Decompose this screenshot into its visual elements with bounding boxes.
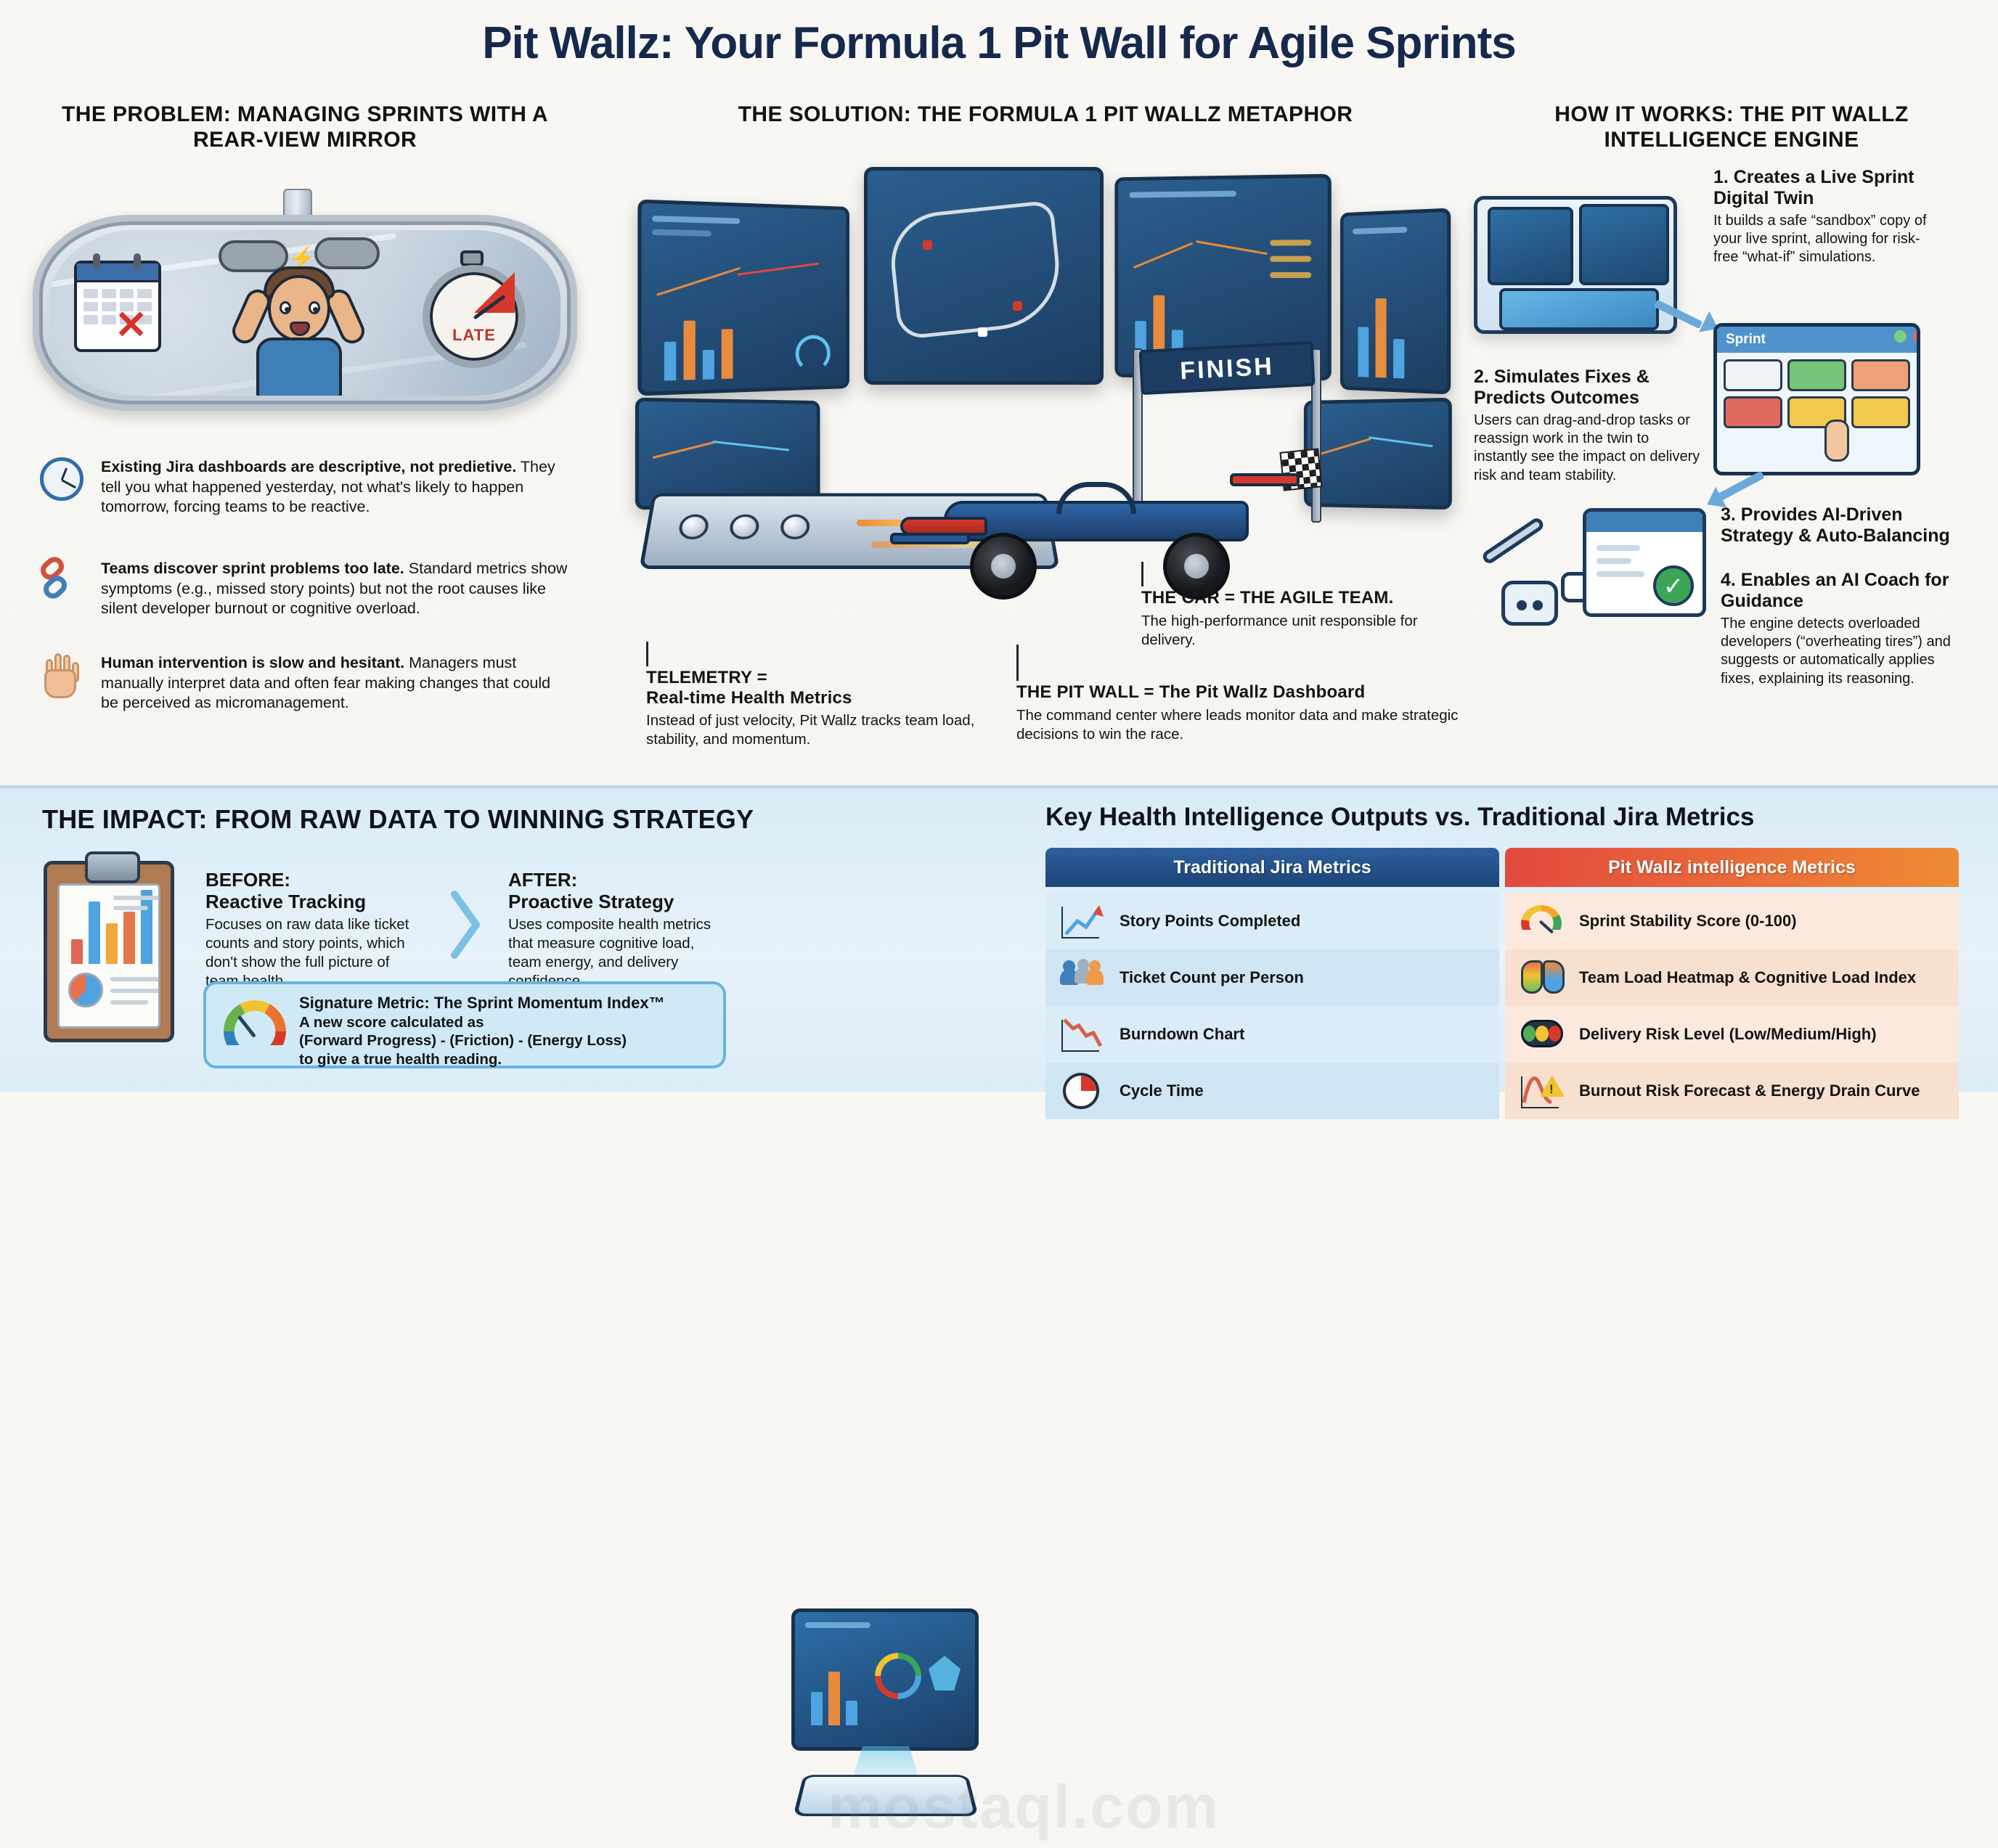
table-cell-label: Burndown Chart: [1120, 1025, 1244, 1044]
callout-car: THE CAR = THE AGILE TEAM. The high-perfo…: [1141, 588, 1461, 650]
clipboard-report-icon: [44, 861, 174, 1042]
finish-banner-label: FINISH: [1139, 341, 1316, 395]
after-block: AFTER: Proactive Strategy Uses composite…: [508, 870, 719, 991]
problem-bullet-2: Teams discover sprint problems too late.…: [40, 559, 570, 619]
column-heading-solution: THE SOLUTION: THE FORMULA 1 PIT WALLZ ME…: [639, 102, 1452, 127]
how-step-2: 2. Simulates Fixes & Predicts Outcomes U…: [1474, 367, 1706, 485]
callout-car-body: The high-performance unit responsible fo…: [1141, 612, 1461, 650]
how-step-4-title: 4. Enables an AI Coach for Guidance: [1721, 570, 1968, 612]
trend-up-chart-icon: [1059, 901, 1106, 941]
hologram-dashboard-illustration: [770, 1608, 1002, 1848]
callout-pit-wall: THE PIT WALL = The Pit Wallz Dashboard T…: [1016, 682, 1467, 744]
table-row: Delivery Risk Level (Low/Medium/High): [1505, 1006, 1959, 1063]
burndown-chart-icon: [1059, 1014, 1106, 1055]
callout-telemetry-title: TELEMETRY =: [646, 668, 987, 688]
comparison-table: Traditional Jira Metrics Pit Wallz intel…: [1045, 848, 1959, 1119]
callout-telemetry-body: Instead of just velocity, Pit Wallz trac…: [646, 711, 987, 749]
speedometer-gauge-icon: [1518, 901, 1566, 941]
table-cell-label: Cycle Time: [1120, 1082, 1204, 1100]
chevron-right-icon: [450, 890, 482, 960]
brain-icon: [1518, 957, 1566, 998]
how-step-3: 3. Provides AI-Driven Strategy & Auto-Ba…: [1721, 504, 1968, 547]
callout-telemetry: TELEMETRY = Real-time Health Metrics Ins…: [646, 668, 987, 750]
how-step-1-body: It builds a safe “sandbox” copy of your …: [1713, 212, 1938, 267]
after-body: Uses composite health metrics that measu…: [508, 915, 719, 991]
column-heading-how-it-works: HOW IT WORKS: THE PIT WALLZ INTELLIGENCE…: [1481, 102, 1982, 153]
raised-hand-icon: [40, 653, 86, 700]
mirror-glass: ✕ ⚡: [49, 230, 560, 396]
how-step-2-title: 2. Simulates Fixes & Predicts Outcomes: [1474, 367, 1706, 409]
stopwatch-late-icon: LATE: [423, 265, 526, 368]
approved-card-illustration: ✓: [1583, 508, 1706, 617]
how-step-3-title: 3. Provides AI-Driven Strategy & Auto-Ba…: [1721, 504, 1968, 547]
before-label: BEFORE:: [205, 870, 423, 891]
callout-pit-wall-title: THE PIT WALL = The Pit Wallz Dashboard: [1016, 682, 1467, 703]
page-title: Pit Wallz: Your Formula 1 Pit Wall for A…: [0, 17, 1998, 69]
table-cell-label: Ticket Count per Person: [1120, 968, 1304, 987]
robot-arm-ai-coach-icon: [1481, 530, 1590, 646]
table-row: Team Load Heatmap & Cognitive Load Index: [1505, 949, 1959, 1006]
bullet-2-bold: Teams discover sprint problems too late.: [101, 560, 404, 577]
table-row: Cycle Time: [1045, 1063, 1499, 1119]
table-row: Burndown Chart: [1045, 1006, 1499, 1063]
sprint-board-title: Sprint: [1717, 327, 1917, 353]
bullet-1-bold: Existing Jira dashboards are descriptive…: [101, 458, 516, 475]
signature-metric-title: Signature Metric: The Sprint Momentum In…: [299, 993, 720, 1013]
table-cell-label: Story Points Completed: [1120, 912, 1300, 931]
pit-wall-illustration: FINISH: [624, 160, 1459, 624]
how-step-2-body: Users can drag-and-drop tasks or reassig…: [1474, 412, 1706, 485]
risk-curve-warning-icon: [1518, 1071, 1566, 1111]
problem-bullet-3: Human intervention is slow and hesitant.…: [40, 653, 570, 714]
how-step-4: 4. Enables an AI Coach for Guidance The …: [1721, 570, 1968, 688]
signature-metric-line2: (Forward Progress) - (Friction) - (Energ…: [299, 1031, 720, 1050]
callout-telemetry-title2: Real-time Health Metrics: [646, 688, 987, 708]
sprint-board-illustration: Sprint: [1713, 323, 1920, 475]
table-cell-label: Sprint Stability Score (0-100): [1579, 912, 1797, 931]
dashboard-screen-lower-right: [1304, 398, 1452, 510]
calendar-x-mark: ✕: [115, 307, 152, 345]
calendar-icon: ✕: [74, 261, 161, 352]
signature-metric-callout: Signature Metric: The Sprint Momentum In…: [203, 981, 726, 1068]
how-step-1: 1. Creates a Live Sprint Digital Twin It…: [1713, 167, 1938, 267]
check-mark-icon: ✓: [1653, 565, 1694, 606]
table-row: Story Points Completed: [1045, 893, 1499, 949]
table-cell-label: Burnout Risk Forecast & Energy Drain Cur…: [1579, 1082, 1920, 1100]
signature-metric-line1: A new score calculated as: [299, 1013, 720, 1032]
callout-pit-wall-body: The command center where leads monitor d…: [1016, 706, 1467, 744]
table-column-traditional: Story Points Completed Ticket Count per …: [1045, 893, 1499, 1119]
before-block: BEFORE: Reactive Tracking Focuses on raw…: [205, 870, 423, 991]
column-heading-problem: THE PROBLEM: MANAGING SPRINTS WITH A REA…: [29, 102, 581, 153]
table-row: Ticket Count per Person: [1045, 949, 1499, 1006]
before-body: Focuses on raw data like ticket counts a…: [205, 915, 423, 991]
table-row: Burnout Risk Forecast & Energy Drain Cur…: [1505, 1063, 1959, 1119]
how-step-1-title: 1. Creates a Live Sprint Digital Twin: [1713, 167, 1938, 209]
digital-twin-illustration: [1474, 196, 1677, 334]
comparison-table-title: Key Health Intelligence Outputs vs. Trad…: [1045, 803, 1754, 832]
callout-car-title: THE CAR = THE AGILE TEAM.: [1141, 588, 1461, 608]
before-title: Reactive Tracking: [205, 891, 423, 913]
after-label: AFTER:: [508, 870, 719, 891]
rear-view-mirror-illustration: ✕ ⚡: [33, 189, 577, 421]
dashboard-screen-left: [637, 200, 849, 396]
dashboard-screen-side: [1340, 208, 1451, 394]
speedometer-gauge-icon: [224, 1000, 286, 1063]
after-title: Proactive Strategy: [508, 891, 719, 913]
table-row: Sprint Stability Score (0-100): [1505, 893, 1959, 949]
clock-icon: [40, 457, 86, 504]
table-cell-label: Delivery Risk Level (Low/Medium/High): [1579, 1025, 1877, 1044]
stopwatch-label: LATE: [423, 326, 526, 345]
how-step-4-body: The engine detects overloaded developers…: [1721, 615, 1968, 688]
impact-heading: THE IMPACT: FROM RAW DATA TO WINNING STR…: [42, 804, 754, 835]
stressed-person-icon: ⚡: [227, 245, 372, 396]
table-header-pitwallz: Pit Wallz intelligence Metrics: [1505, 848, 1959, 887]
table-header-traditional: Traditional Jira Metrics: [1045, 848, 1499, 887]
table-cell-label: Team Load Heatmap & Cognitive Load Index: [1579, 968, 1916, 987]
table-column-pitwallz: Sprint Stability Score (0-100) Team Load…: [1505, 893, 1959, 1119]
traffic-light-icon: [1518, 1014, 1566, 1055]
infographic-top-area: Pit Wallz: Your Formula 1 Pit Wall for A…: [0, 0, 1998, 785]
broken-chain-icon: [40, 559, 86, 605]
problem-bullet-1: Existing Jira dashboards are descriptive…: [40, 457, 570, 518]
formula-1-car-illustration: [900, 450, 1307, 602]
people-group-icon: [1059, 957, 1106, 998]
mirror-body: ✕ ⚡: [33, 215, 577, 411]
dashboard-screen-track-map: [864, 167, 1104, 385]
clock-icon: [1059, 1071, 1106, 1111]
how-it-works-diagram: 1. Creates a Live Sprint Digital Twin It…: [1474, 167, 1997, 784]
bullet-3-bold: Human intervention is slow and hesitant.: [101, 654, 404, 671]
signature-metric-line3: to give a true health reading.: [299, 1050, 720, 1069]
